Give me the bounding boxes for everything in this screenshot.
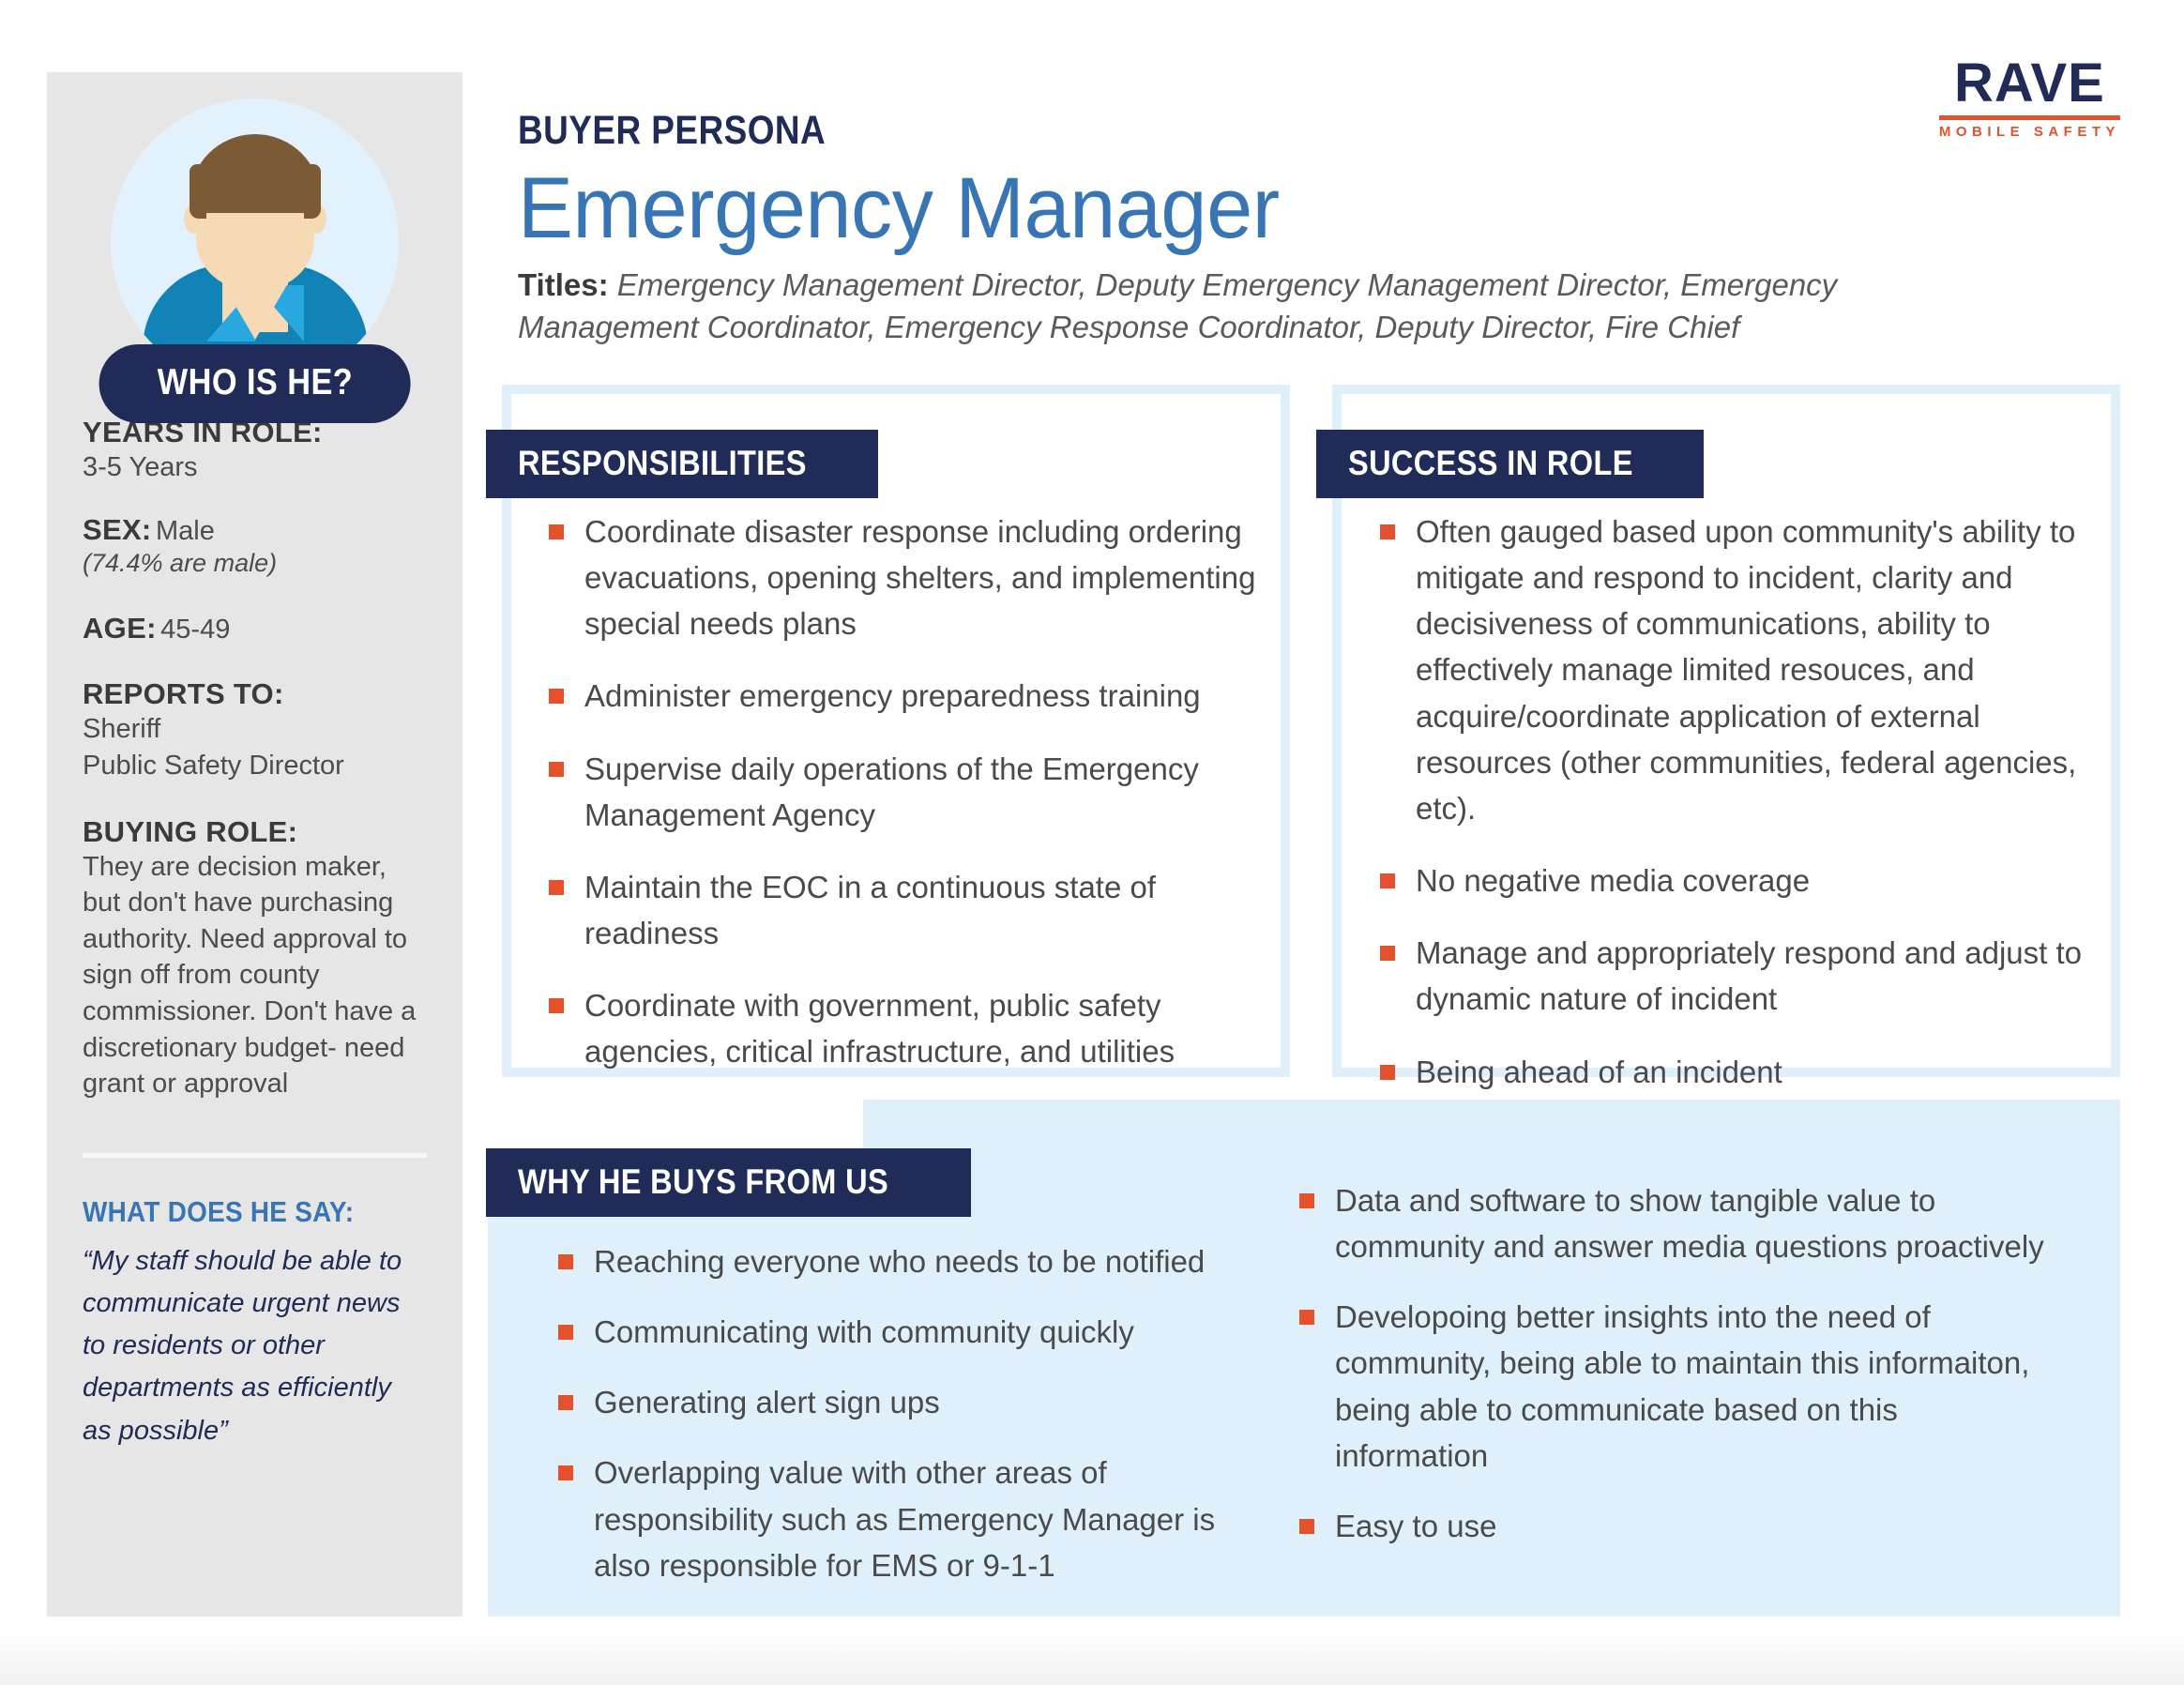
logo-rule — [1939, 115, 2120, 120]
list-item: Generating alert sign ups — [554, 1379, 1266, 1425]
list-item: Maintain the EOC in a continuous state o… — [544, 864, 1257, 956]
who-is-he-badge: WHO IS HE? — [99, 344, 411, 423]
list-item: Reaching everyone who needs to be notifi… — [554, 1238, 1266, 1284]
avatar — [111, 99, 399, 387]
list-item: Easy to use — [1295, 1503, 2045, 1549]
who-is-he-sidebar: WHO IS HE? YEARS IN ROLE: 3-5 Years SEX:… — [47, 72, 463, 1617]
sex-row: SEX: Male — [83, 513, 427, 547]
logo-wordmark: RAVE — [1939, 56, 2120, 111]
page-header: BUYER PERSONA Emergency Manager Titles: … — [518, 111, 1906, 348]
list-item: Being ahead of an incident — [1375, 1049, 2098, 1095]
list-item: Developoing better insights into the nee… — [1295, 1294, 2045, 1479]
age-row: AGE: 45-49 — [83, 612, 427, 645]
success-in-role-list: Often gauged based upon community's abil… — [1375, 509, 2098, 1193]
buying-role-label: BUYING ROLE: — [83, 815, 427, 849]
list-item: Data and software to show tangible value… — [1295, 1177, 2045, 1269]
persona-page: WHO IS HE? YEARS IN ROLE: 3-5 Years SEX:… — [0, 0, 2184, 1685]
sex-note: (74.4% are male) — [83, 547, 427, 580]
persona-quote: “My staff should be able to communicate … — [83, 1240, 427, 1452]
list-item: Coordinate with government, public safet… — [544, 982, 1257, 1074]
avatar-hair — [190, 134, 321, 213]
avatar-hair-left — [190, 164, 206, 219]
why-he-buys-badge: WHY HE BUYS FROM US — [486, 1148, 971, 1217]
page-title: Emergency Manager — [518, 162, 1906, 255]
reports-to-value-2: Public Safety Director — [83, 748, 427, 784]
job-titles-label: Titles: — [518, 267, 609, 302]
age-label: AGE: — [83, 612, 157, 645]
why-he-buys-list-right: Data and software to show tangible value… — [1295, 1177, 2045, 1573]
responsibilities-badge: RESPONSIBILITIES — [486, 430, 878, 498]
avatar-neck-v — [221, 281, 289, 340]
job-titles: Titles: Emergency Management Director, D… — [518, 265, 1850, 347]
avatar-hair-right — [304, 164, 321, 219]
sex-label: SEX: — [83, 513, 152, 546]
avatar-wrap: WHO IS HE? — [83, 72, 427, 382]
list-item: Communicating with community quickly — [554, 1309, 1266, 1355]
reports-to-label: REPORTS TO: — [83, 677, 427, 711]
buying-role-value: They are decision maker, but don't have … — [83, 849, 427, 1102]
page-bottom-fade — [0, 1629, 2184, 1685]
sex-value: Male — [156, 516, 215, 546]
logo-tagline: MOBILE SAFETY — [1939, 125, 2120, 139]
years-in-role-value: 3-5 Years — [83, 449, 427, 486]
who-is-he-badge-label: WHO IS HE? — [157, 362, 352, 403]
rave-logo: RAVE MOBILE SAFETY — [1939, 56, 2120, 139]
success-in-role-badge: SUCCESS IN ROLE — [1316, 430, 1704, 498]
list-item: Often gauged based upon community's abil… — [1375, 509, 2098, 831]
job-titles-value: Emergency Management Director, Deputy Em… — [518, 267, 1837, 343]
list-item: Manage and appropriately respond and adj… — [1375, 930, 2098, 1022]
reports-to-value-1: Sheriff — [83, 711, 427, 748]
what-does-he-say-label: WHAT DOES HE SAY: — [83, 1195, 427, 1229]
sidebar-divider — [83, 1153, 427, 1158]
age-value: 45-49 — [160, 615, 230, 645]
list-item: Administer emergency preparedness traini… — [544, 673, 1257, 719]
list-item: No negative media coverage — [1375, 858, 2098, 903]
why-badge-backdrop — [488, 1100, 863, 1148]
why-he-buys-list-left: Reaching everyone who needs to be notifi… — [554, 1238, 1266, 1613]
sidebar-fields: YEARS IN ROLE: 3-5 Years SEX: Male (74.4… — [83, 382, 427, 1452]
list-item: Overlapping value with other areas of re… — [554, 1450, 1266, 1587]
eyebrow-label: BUYER PERSONA — [518, 111, 1906, 151]
list-item: Coordinate disaster response including o… — [544, 509, 1257, 646]
list-item: Supervise daily operations of the Emerge… — [544, 746, 1257, 838]
